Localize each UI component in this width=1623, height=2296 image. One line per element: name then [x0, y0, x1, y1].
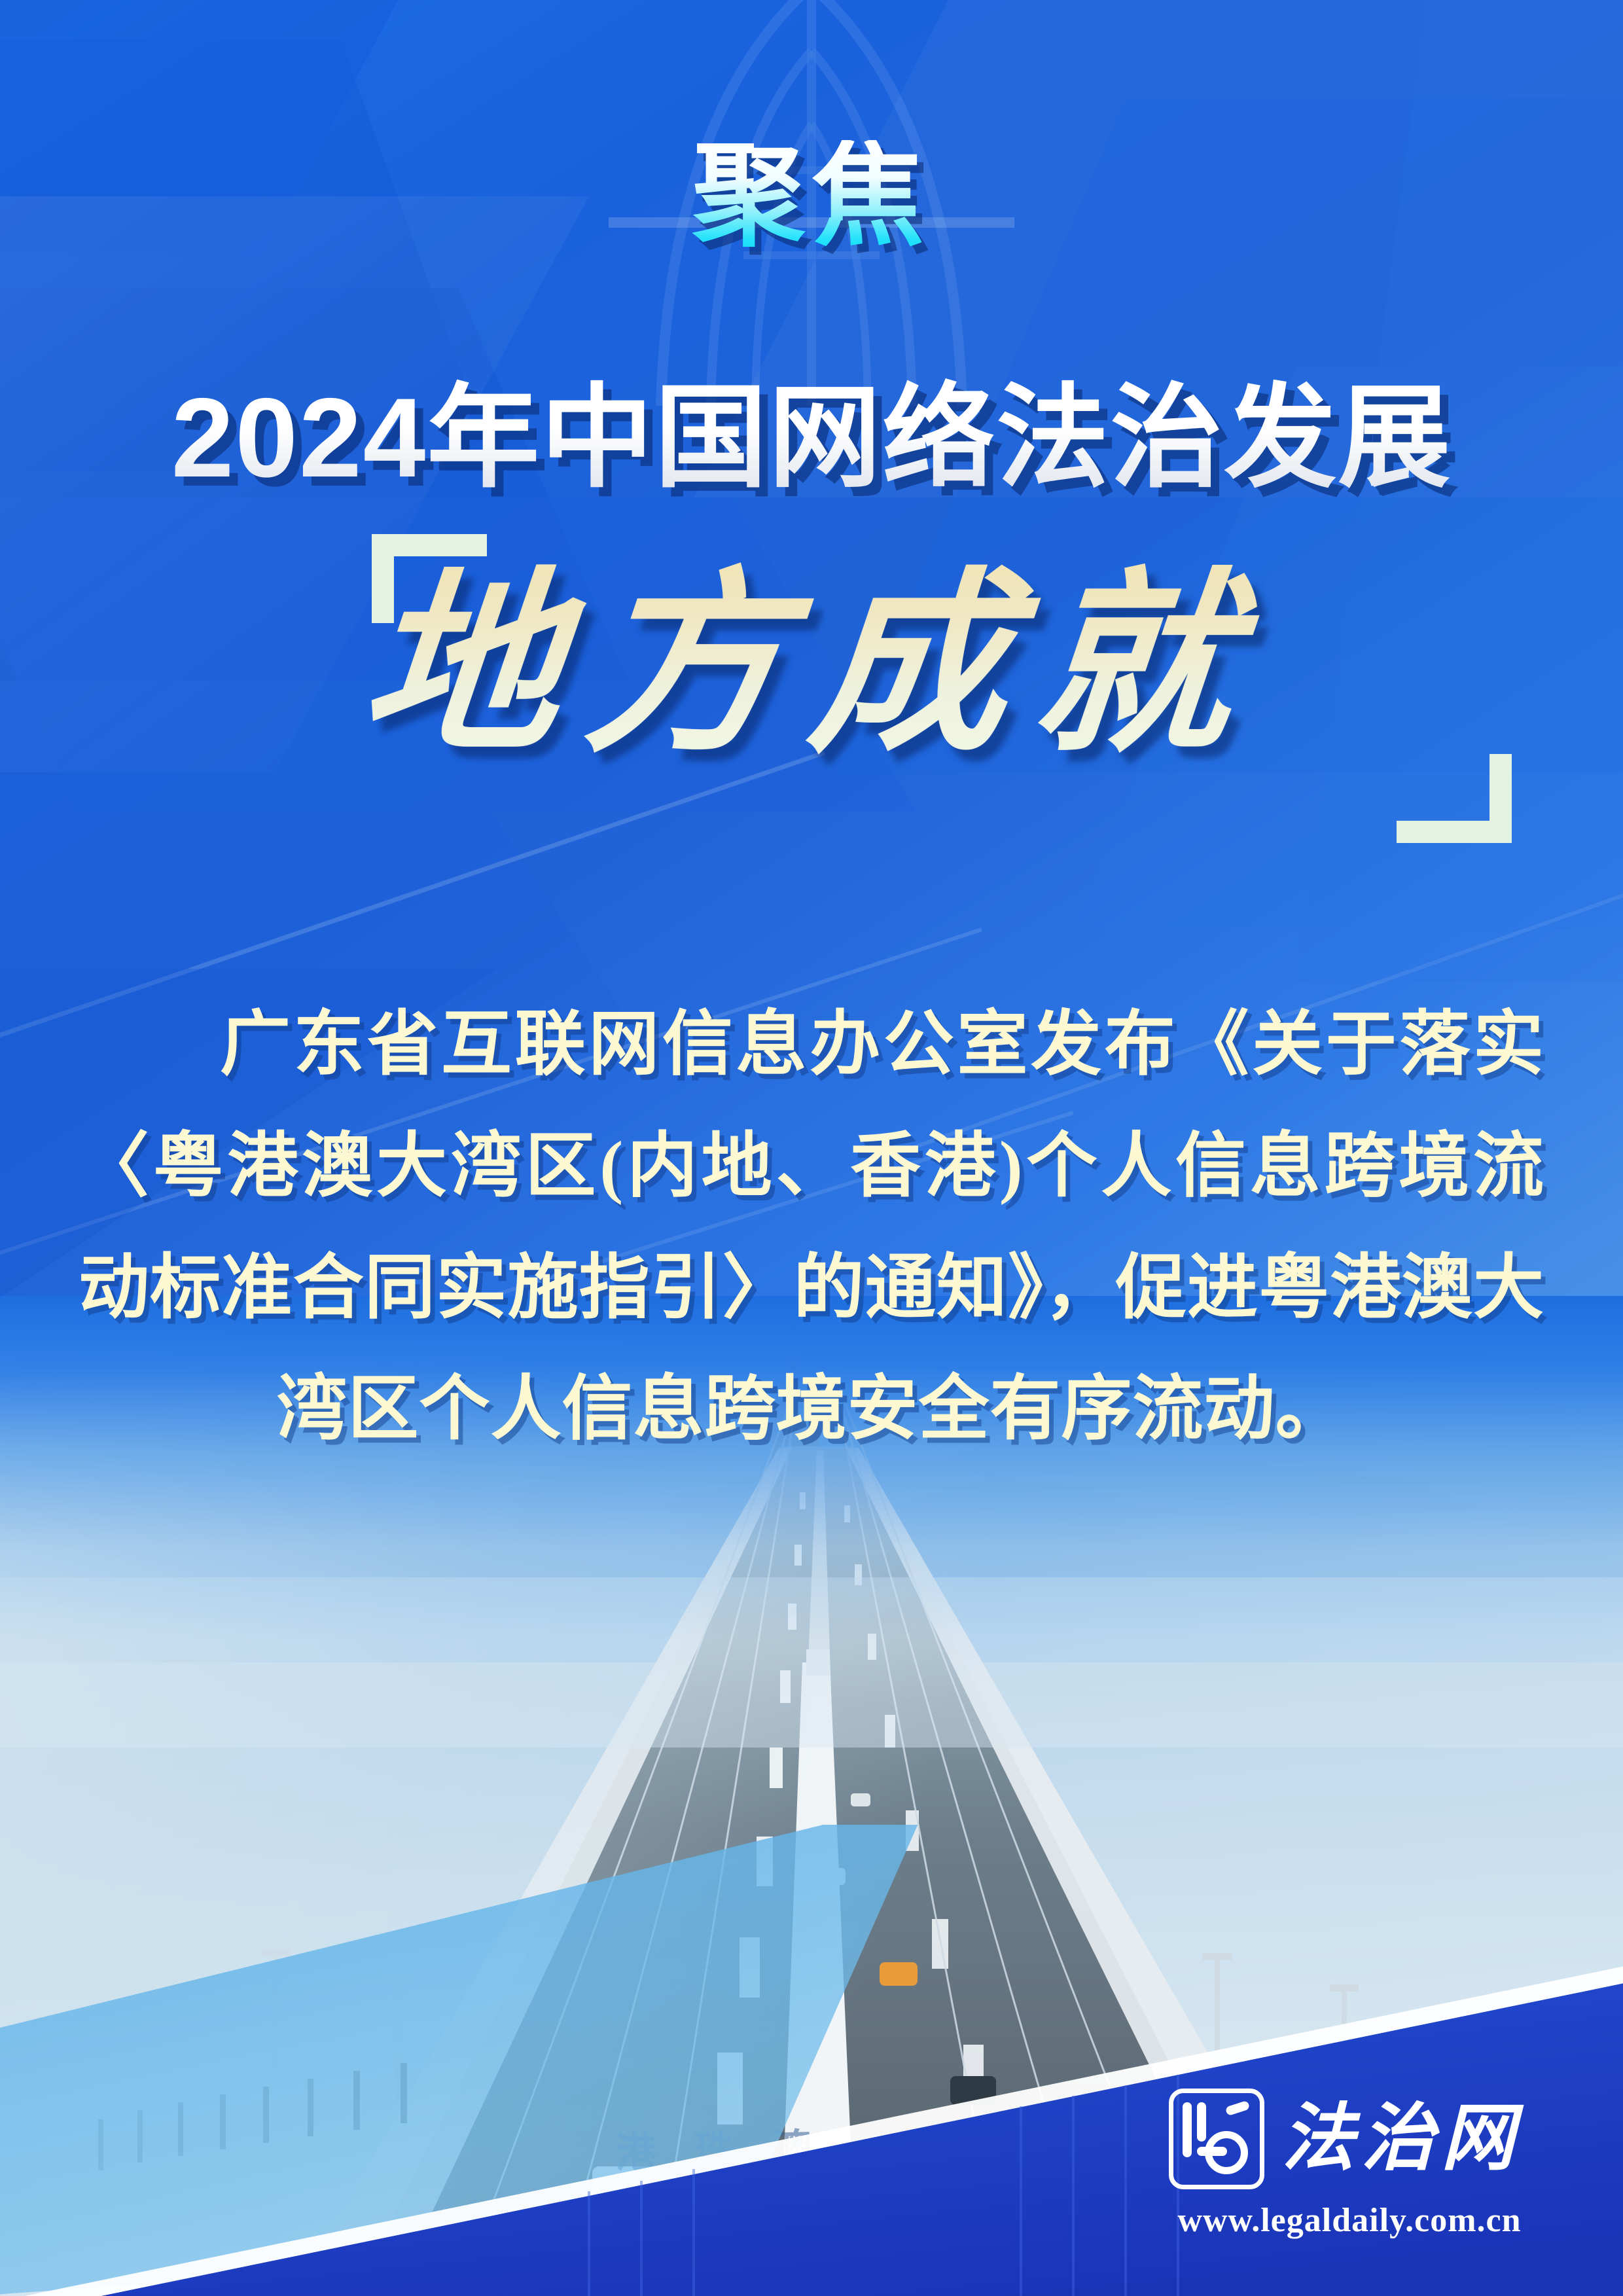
body-paragraph: 广东省互联网信息办公室发布《关于落实〈粤港澳大湾区(内地、香港)个人信息跨境流动…: [79, 984, 1544, 1471]
kicker-block: 聚焦: [0, 140, 1623, 271]
poster-root: 港珠澳大桥: [0, 0, 1623, 2296]
page-title-block: 2024年中国网络法治发展: [0, 302, 1623, 575]
logo-url[interactable]: www.legaldaily.com.cn: [1173, 2201, 1526, 2240]
calligraphy-text: 地方成就: [354, 554, 1269, 780]
logo-row: 法治网: [1169, 2089, 1535, 2189]
kicker-text: 聚焦: [692, 140, 931, 253]
logo-name: 法治网: [1281, 2102, 1521, 2176]
seal-stamp-icon: [1169, 2089, 1264, 2189]
footer-logo[interactable]: 法治网 www.legaldaily.com.cn: [1169, 2089, 1535, 2240]
body-block: 广东省互联网信息办公室发布《关于落实〈粤港澳大湾区(内地、香港)个人信息跨境流动…: [79, 914, 1544, 1541]
calligraphy-block: 地方成就: [0, 554, 1623, 829]
page-title: 2024年中国网络法治发展: [171, 378, 1452, 499]
